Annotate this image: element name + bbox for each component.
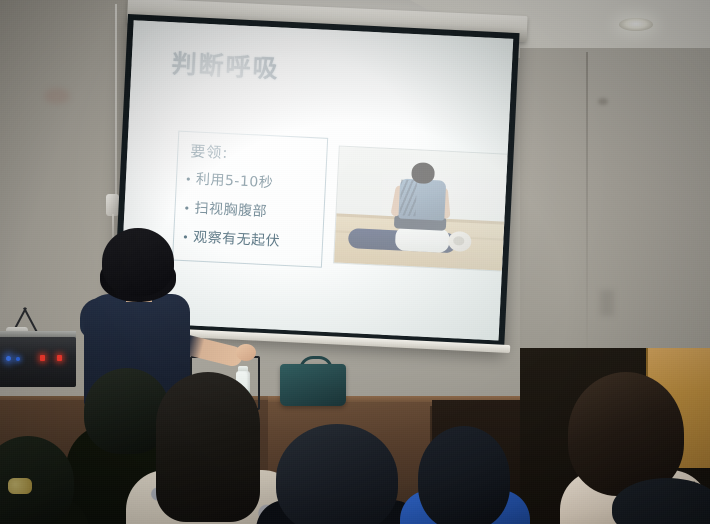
slide-bullet-list: 利用5-10秒 扫视胸腹部 观察有无起伏 — [181, 168, 321, 262]
hair-clip-icon — [8, 478, 32, 494]
power-led-icon — [16, 357, 20, 361]
right-wall — [520, 48, 710, 348]
status-led-icon — [40, 355, 45, 361]
list-item — [276, 424, 398, 524]
lecture-hall-photo: 判断呼吸 要领: 利用5-10秒 扫视胸腹部 观察有无起伏 — [0, 0, 710, 524]
list-item — [156, 372, 260, 522]
slide-bullet-1: 利用5-10秒 — [185, 168, 322, 195]
cord-switch-icon[interactable] — [106, 194, 119, 216]
laptop-bag[interactable] — [280, 364, 346, 406]
slide-bullet-2: 扫视胸腹部 — [183, 197, 320, 224]
presenter-hair — [102, 228, 174, 296]
slide-bullet-box: 要领: 利用5-10秒 扫视胸腹部 观察有无起伏 — [172, 131, 328, 268]
slide-title: 判断呼吸 — [171, 44, 281, 85]
slide-bullet-heading: 要领: — [190, 140, 229, 163]
presenter-hand — [236, 344, 256, 361]
power-led-icon — [6, 356, 11, 361]
wall-shadow — [600, 290, 614, 316]
slide-photo-cpr-demo — [334, 147, 507, 271]
ceiling-downlight-icon — [619, 18, 653, 31]
photo-projection-wash — [334, 147, 507, 271]
slide-bullet-3: 观察有无起伏 — [182, 226, 319, 253]
list-item — [418, 426, 510, 524]
pull-cord — [115, 4, 117, 200]
wall-mark — [598, 98, 608, 105]
wall-corner-seam — [586, 52, 588, 352]
